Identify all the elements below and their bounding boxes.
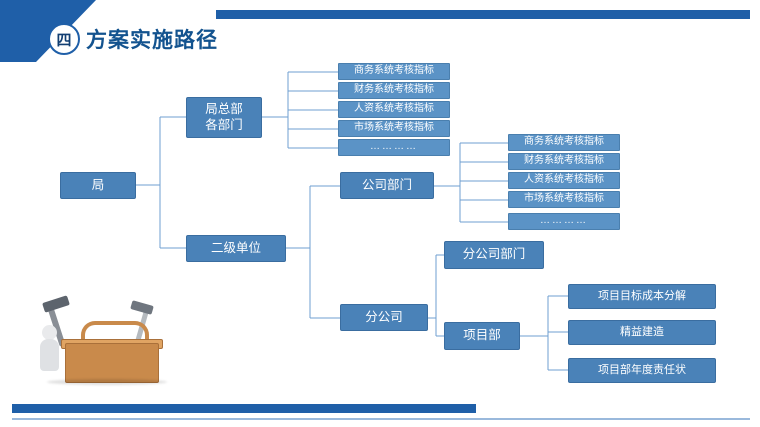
node-secondary-unit[interactable]: 二级单位 [186, 235, 286, 262]
node-company-department[interactable]: 公司部门 [340, 172, 434, 199]
toolbox-shadow [47, 379, 167, 385]
node-project-department-label: 项目部 [463, 328, 501, 344]
node-company-metric-3[interactable]: 人资系统考核指标 [508, 172, 620, 189]
node-project-item-3[interactable]: 项目部年度责任状 [568, 358, 716, 383]
hammer-head-icon [42, 295, 70, 313]
figure-icon [39, 325, 61, 381]
node-hq-metric-4[interactable]: 市场系统考核指标 [338, 120, 450, 137]
node-company-metric-2-label: 财务系统考核指标 [524, 155, 604, 168]
node-company-department-label: 公司部门 [362, 178, 412, 194]
node-hq-departments-label-1: 局总部 [205, 102, 243, 118]
node-project-department[interactable]: 项目部 [444, 322, 520, 350]
node-root[interactable]: 局 [60, 172, 136, 199]
node-project-item-1-label: 项目目标成本分解 [598, 290, 686, 304]
node-hq-metric-2[interactable]: 财务系统考核指标 [338, 82, 450, 99]
node-company-metric-3-label: 人资系统考核指标 [524, 174, 604, 187]
node-branch-company-label: 分公司 [365, 310, 403, 326]
node-hq-departments-label-2: 各部门 [205, 118, 243, 134]
node-company-metric-4[interactable]: 市场系统考核指标 [508, 191, 620, 208]
toolbox-body-icon [65, 343, 159, 383]
node-company-metric-2[interactable]: 财务系统考核指标 [508, 153, 620, 170]
node-branch-department[interactable]: 分公司部门 [444, 241, 544, 269]
node-branch-department-label: 分公司部门 [463, 247, 526, 263]
node-branch-company[interactable]: 分公司 [340, 304, 428, 331]
node-project-item-2[interactable]: 精益建造 [568, 320, 716, 345]
figure-body-icon [40, 339, 59, 371]
node-company-metric-1[interactable]: 商务系统考核指标 [508, 134, 620, 151]
node-company-metric-5-label: ………… [540, 215, 588, 228]
figure-head-icon [42, 325, 57, 340]
wrench-head-icon [130, 300, 154, 315]
node-hq-metric-5[interactable]: ………… [338, 139, 450, 156]
node-company-metric-5[interactable]: ………… [508, 213, 620, 230]
node-hq-metric-3[interactable]: 人资系统考核指标 [338, 101, 450, 118]
node-hq-metric-3-label: 人资系统考核指标 [354, 103, 434, 116]
node-secondary-unit-label: 二级单位 [211, 241, 261, 257]
toolbox-illustration [35, 295, 185, 388]
node-hq-departments[interactable]: 局总部 各部门 [186, 97, 262, 138]
node-project-item-1[interactable]: 项目目标成本分解 [568, 284, 716, 309]
node-project-item-3-label: 项目部年度责任状 [598, 364, 686, 378]
node-hq-metric-2-label: 财务系统考核指标 [354, 84, 434, 97]
node-hq-metric-1[interactable]: 商务系统考核指标 [338, 63, 450, 80]
node-hq-metric-4-label: 市场系统考核指标 [354, 122, 434, 135]
node-company-metric-4-label: 市场系统考核指标 [524, 193, 604, 206]
node-hq-metric-5-label: ………… [370, 141, 418, 154]
node-company-metric-1-label: 商务系统考核指标 [524, 136, 604, 149]
node-project-item-2-label: 精益建造 [620, 326, 664, 340]
node-hq-metric-1-label: 商务系统考核指标 [354, 65, 434, 78]
node-root-label: 局 [92, 178, 105, 194]
